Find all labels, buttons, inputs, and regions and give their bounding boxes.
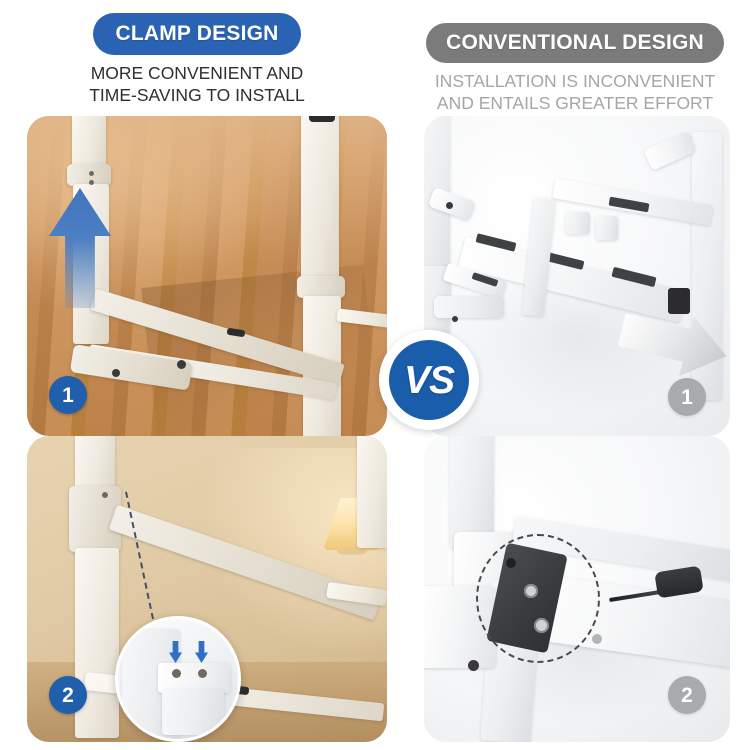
clamp-design-subtitle: MORE CONVENIENT AND TIME-SAVING TO INSTA…	[27, 62, 367, 107]
callout-leader-line	[125, 492, 154, 620]
step-badge-1-conventional: 1	[668, 378, 706, 416]
screwdriver-handle	[654, 566, 704, 599]
right-leg-step2	[357, 436, 387, 548]
left-collar-screw-b	[89, 180, 94, 185]
right-leg-top-cap	[309, 116, 335, 122]
panel-clamp-step-1: 1	[27, 116, 387, 436]
magnified-screw-a	[172, 669, 181, 678]
step-badge-1-clamp: 1	[49, 376, 87, 414]
vs-badge-circle: VS	[389, 340, 469, 420]
step-badge-2-clamp: 2	[49, 676, 87, 714]
left-bracket-screw	[446, 202, 453, 209]
foot-screw-secondary	[112, 369, 120, 377]
conventional-design-badge: CONVENTIONAL DESIGN	[426, 23, 724, 63]
lamp-base	[337, 548, 367, 555]
magnified-screw-b	[198, 669, 207, 678]
panel-conventional-step-2: 2	[424, 436, 730, 742]
step-badge-2-conventional: 2	[668, 676, 706, 714]
clamp-design-badge: CLAMP DESIGN	[93, 13, 300, 55]
left-collar-screw-a	[89, 171, 94, 176]
base-rail-hole	[592, 634, 602, 644]
conventional-design-subtitle: INSTALLATION IS INCONVENIENT AND ENTAILS…	[420, 70, 730, 115]
foot-screw-conventional	[452, 316, 458, 322]
right-leg-upper	[301, 116, 339, 280]
right-leg-bracket	[644, 131, 697, 171]
clamp-detail-magnifier	[115, 616, 241, 742]
left-foot-conventional	[434, 296, 504, 318]
right-leg-clamp-collar	[297, 276, 345, 298]
left-leg-lower-step2	[75, 548, 119, 738]
vs-badge-label: VS	[404, 361, 454, 400]
detail-dashed-circle	[476, 534, 600, 663]
header-column-clamp: CLAMP DESIGN MORE CONVENIENT AND TIME-SA…	[27, 0, 367, 107]
foot-bracket-screw	[468, 660, 479, 671]
panel-clamp-step-2: 2	[27, 436, 387, 742]
crossbeam-end-cap	[668, 288, 690, 314]
header: CLAMP DESIGN MORE CONVENIENT AND TIME-SA…	[0, 0, 750, 115]
rail-tab-a	[566, 212, 590, 234]
arrow-down-icon-b	[195, 641, 208, 663]
vs-badge: VS	[379, 330, 479, 430]
collar-screw-step2	[102, 492, 108, 498]
header-column-conventional: CONVENTIONAL DESIGN INSTALLATION IS INCO…	[420, 0, 730, 115]
foot-screw	[177, 360, 186, 369]
magnified-bracket	[162, 689, 224, 735]
left-leg-upper	[72, 116, 106, 170]
rail-tab-b	[596, 216, 618, 240]
comparison-infographic: CLAMP DESIGN MORE CONVENIENT AND TIME-SA…	[0, 0, 750, 750]
